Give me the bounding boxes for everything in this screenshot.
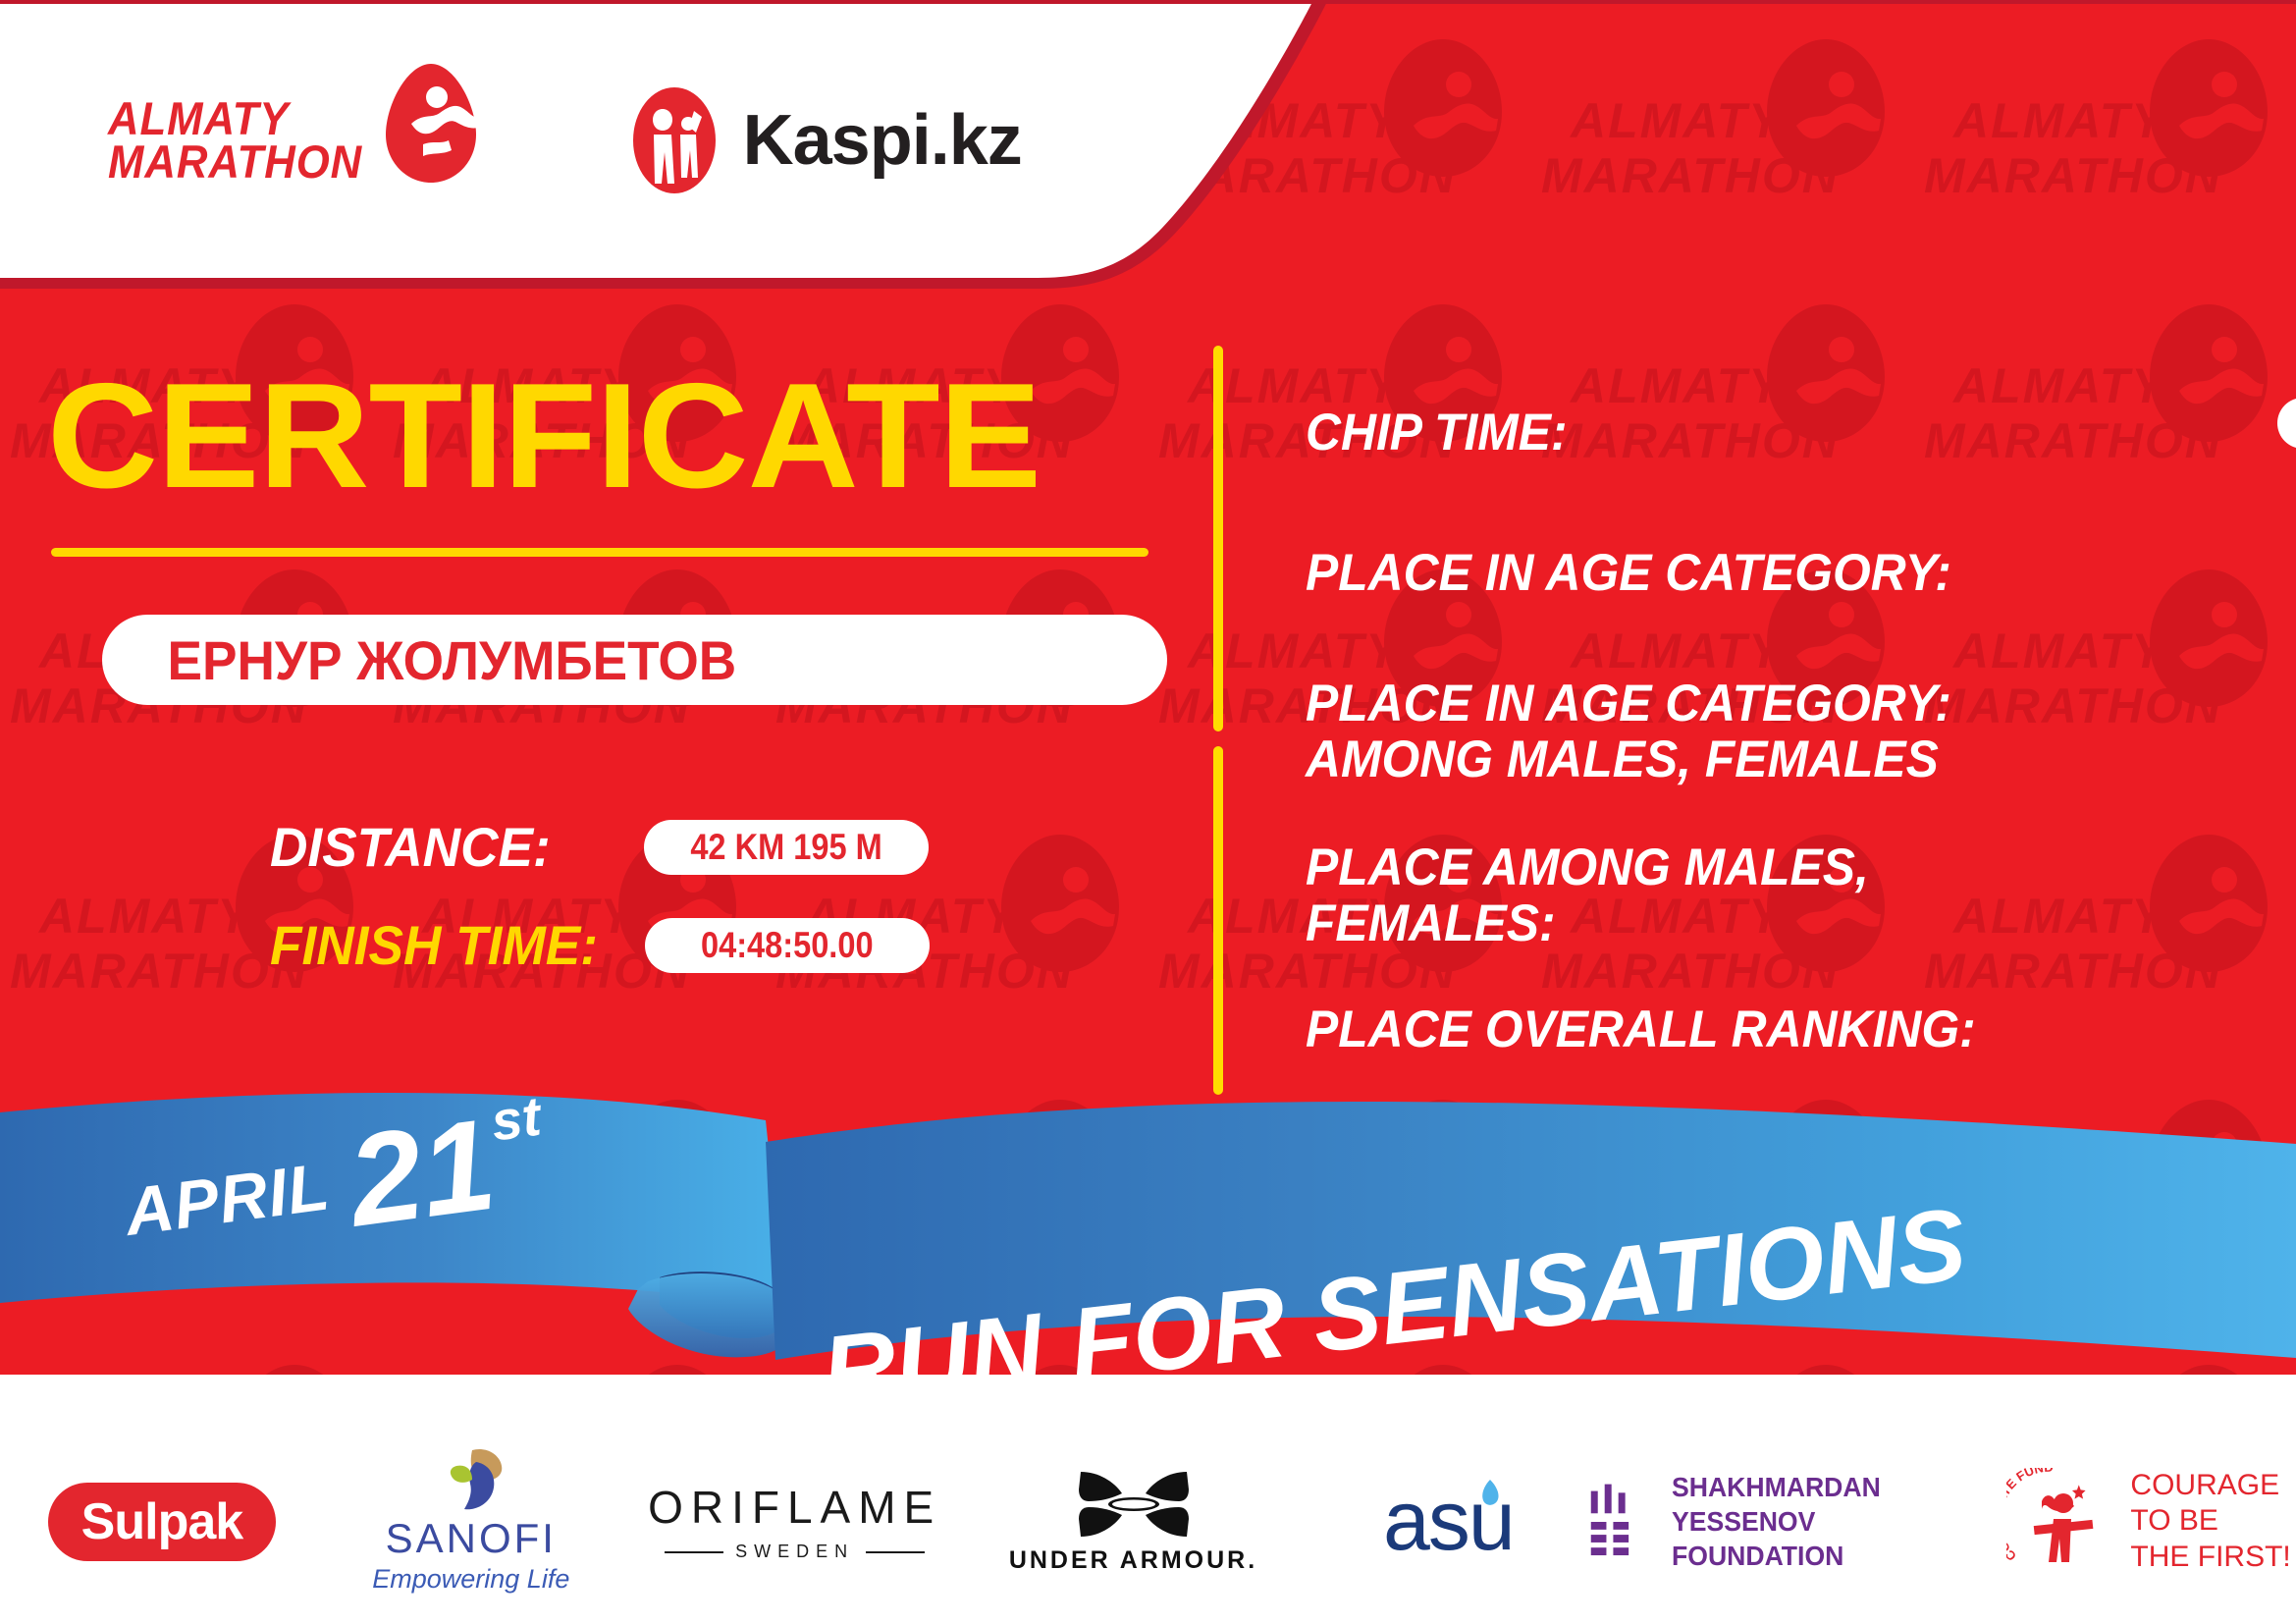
svg-text:CORPORATE FUND: CORPORATE FUND [2006,1468,2054,1564]
kaspi-people-oval-icon [627,85,721,195]
oriflame-wordmark: ORIFLAME [648,1481,941,1534]
kaspi-logo: Kaspi.kz [627,85,1022,195]
ribbon-day: 21 [322,1109,501,1239]
place-age-category-label: PLACE IN AGE CATEGORY: [1306,545,1951,601]
sulpak-logo: Sulpak [48,1483,277,1561]
oriflame-rule-left [665,1551,723,1553]
distance-row: DISTANCE: 42 KM 195 M [270,815,929,879]
finish-time-value-pill: 04:48:50.00 [645,918,930,973]
stat-row-place-age-category-gender: PLACE IN AGE CATEGORY: AMONG MALES, FEMA… [1306,676,2296,787]
stats-column: CHIP TIME: 04:48:14.00 PLACE IN AGE CATE… [1247,295,2296,1100]
kaspi-wordmark: Kaspi.kz [743,100,1022,181]
certificate-page: ALMATY MARATHON ALMATY MARATHON [0,0,2296,1624]
sponsor-sulpak: Sulpak [0,1438,324,1605]
under-armour-logo [1075,1468,1193,1541]
sponsor-bar: Sulpak SANOFI Empowering Life ORIFLAME S… [0,1419,2296,1624]
oriflame-sub: SWEDEN [735,1542,854,1562]
sponsor-asu: asu [1295,1438,1589,1605]
vertical-divider-top [1213,346,1223,731]
sponsor-shakhmardan-yessenov-foundation: SHAKHMARDAN YESSENOV FOUNDATION [1589,1438,2002,1605]
distance-value: 42 KM 195 M [690,827,881,868]
sanofi-tagline: Empowering Life [372,1564,569,1595]
almaty-marathon-logo: ALMATY MARATHON [108,95,480,185]
sanofi-logo [437,1448,506,1513]
sponsor-corporate-fund: CORPORATE FUND COURAGE TO BE THE FIRST! [2002,1438,2296,1605]
finish-time-label: FINISH TIME: [270,913,598,977]
page-title: CERTIFICATE [47,361,1041,511]
asu-logo: asu [1383,1484,1502,1559]
corporate-fund-tagline: COURAGE TO BE THE FIRST! [2130,1468,2290,1576]
stat-row-place-age-category: PLACE IN AGE CATEGORY: [1306,545,2296,601]
header-logos: ALMATY MARATHON Kaspi.kz [0,0,1178,280]
distance-label: DISTANCE: [270,815,551,879]
shakhmardan-yessenov-foundation-wordmark: SHAKHMARDAN YESSENOV FOUNDATION [1672,1470,1985,1573]
sponsor-oriflame: ORIFLAME SWEDEN [618,1438,972,1605]
chip-time-label: CHIP TIME: [1306,405,1568,460]
place-among-gender-label: PLACE AMONG MALES, FEMALES: [1306,839,1869,951]
almaty-marathon-line1: ALMATY [108,97,362,139]
title-underline [51,548,1148,557]
finish-time-value: 04:48:50.00 [701,925,874,966]
sponsor-sanofi: SANOFI Empowering Life [324,1438,618,1605]
distance-value-pill: 42 KM 195 M [644,820,929,875]
oriflame-logo: ORIFLAME SWEDEN [648,1481,941,1562]
sulpak-wordmark: Sulpak [81,1493,243,1550]
left-column: CERTIFICATE ЕРНУР ЖОЛУМБЕТОВ DISTANCE: 4… [0,295,1178,1100]
shakhmardan-yessenov-foundation-logo [1589,1477,1646,1567]
corporate-fund-courage-logo: CORPORATE FUND [2006,1468,2114,1576]
stat-row-place-overall: PLACE OVERALL RANKING: [1306,1001,2296,1057]
stat-row-place-among-gender: PLACE AMONG MALES, FEMALES: [1306,839,2296,951]
participant-name-field: ЕРНУР ЖОЛУМБЕТОВ [102,615,1167,705]
participant-name-value: ЕРНУР ЖОЛУМБЕТОВ [102,628,736,692]
finish-time-row: FINISH TIME: 04:48:50.00 [270,913,930,977]
top-hairline [0,0,2296,4]
almaty-marathon-line2: MARATHON [108,140,362,183]
vertical-divider-bottom [1213,746,1223,1095]
place-age-category-gender-label: PLACE IN AGE CATEGORY: AMONG MALES, FEMA… [1306,676,1951,787]
oriflame-rule-right [866,1551,925,1553]
asu-droplet-icon [1474,1478,1502,1519]
almaty-marathon-runner-drop-icon [382,62,480,185]
under-armour-wordmark: UNDER ARMOUR. [1009,1546,1257,1575]
place-overall-label: PLACE OVERALL RANKING: [1306,1001,1976,1057]
sanofi-wordmark: SANOFI [386,1515,557,1562]
stat-row-chip-time: CHIP TIME: [1306,405,2296,460]
sponsor-under-armour: UNDER ARMOUR. [972,1438,1296,1605]
